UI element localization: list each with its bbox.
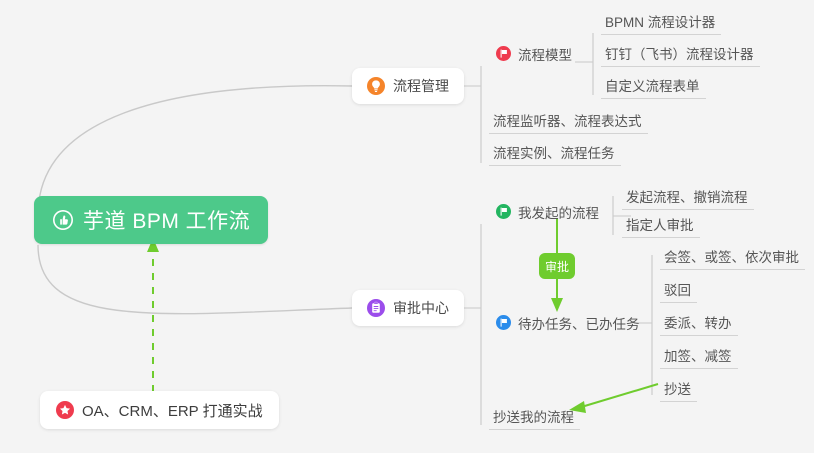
leaf-label: 流程实例、流程任务 — [493, 142, 615, 162]
leaf-process-listener-expression[interactable]: 流程监听器、流程表达式 — [489, 109, 648, 134]
flag-icon — [496, 315, 511, 330]
leaf-label: 驳回 — [664, 279, 691, 299]
oa-crm-erp-node[interactable]: OA、CRM、ERP 打通实战 — [40, 391, 279, 429]
leaf-label: 待办任务、已办任务 — [518, 313, 640, 333]
leaf-label: 自定义流程表单 — [605, 75, 700, 95]
leaf-label: 会签、或签、依次审批 — [664, 246, 799, 266]
leaf-label: 流程监听器、流程表达式 — [493, 110, 642, 130]
approval-tag-label: 审批 — [545, 258, 569, 275]
leaf-cc-to-me-processes[interactable]: 抄送我的流程 — [489, 405, 580, 430]
leaf-label: 钉钉（飞书）流程设计器 — [605, 43, 754, 63]
leaf-label: BPMN 流程设计器 — [605, 11, 715, 31]
star-icon — [56, 401, 74, 419]
leaf-label: 流程模型 — [518, 44, 572, 64]
lightbulb-icon — [367, 77, 385, 95]
leaf-start-cancel-process[interactable]: 发起流程、撤销流程 — [622, 185, 754, 210]
leaf-label: 指定人审批 — [626, 214, 694, 234]
leaf-cc[interactable]: 抄送 — [660, 377, 697, 402]
leaf-bpmn-designer[interactable]: BPMN 流程设计器 — [601, 10, 721, 35]
leaf-label: 加签、减签 — [664, 345, 732, 365]
approval-tag[interactable]: 审批 — [539, 253, 575, 279]
branch-node-process-management[interactable]: 流程管理 — [352, 68, 464, 104]
leaf-countersign-orsign-sequential[interactable]: 会签、或签、依次审批 — [660, 245, 805, 270]
branch-label: 审批中心 — [393, 298, 449, 318]
leaf-todo-done-tasks[interactable]: 待办任务、已办任务 — [492, 312, 646, 336]
leaf-label: 抄送 — [664, 378, 691, 398]
leaf-label: 抄送我的流程 — [493, 406, 574, 426]
branch-label: 流程管理 — [393, 76, 449, 96]
leaf-assignee-approval[interactable]: 指定人审批 — [622, 213, 700, 238]
flag-icon — [496, 204, 511, 219]
leaf-label: 发起流程、撤销流程 — [626, 186, 748, 206]
root-label: 芋道 BPM 工作流 — [83, 205, 250, 235]
oa-crm-erp-label: OA、CRM、ERP 打通实战 — [82, 400, 263, 421]
leaf-custom-process-form[interactable]: 自定义流程表单 — [601, 74, 706, 99]
leaf-delegate-transfer[interactable]: 委派、转办 — [660, 311, 738, 336]
clipboard-icon — [367, 299, 385, 317]
leaf-reject[interactable]: 驳回 — [660, 278, 697, 303]
flag-icon — [496, 46, 511, 61]
leaf-label: 我发起的流程 — [518, 202, 599, 222]
mindmap-canvas: 芋道 BPM 工作流 流程管理 流程模型 BPMN 流程设计器 钉钉（飞书）流 — [0, 0, 814, 453]
leaf-add-remove-sign[interactable]: 加签、减签 — [660, 344, 738, 369]
branch-node-approval-center[interactable]: 审批中心 — [352, 290, 464, 326]
root-node[interactable]: 芋道 BPM 工作流 — [34, 196, 268, 244]
leaf-label: 委派、转办 — [664, 312, 732, 332]
leaf-process-model[interactable]: 流程模型 — [492, 43, 578, 67]
leaf-process-instance-task[interactable]: 流程实例、流程任务 — [489, 141, 621, 166]
leaf-my-initiated-processes[interactable]: 我发起的流程 — [492, 201, 605, 225]
thumbs-up-icon — [52, 209, 74, 231]
leaf-dingtalk-feishu-designer[interactable]: 钉钉（飞书）流程设计器 — [601, 42, 760, 67]
